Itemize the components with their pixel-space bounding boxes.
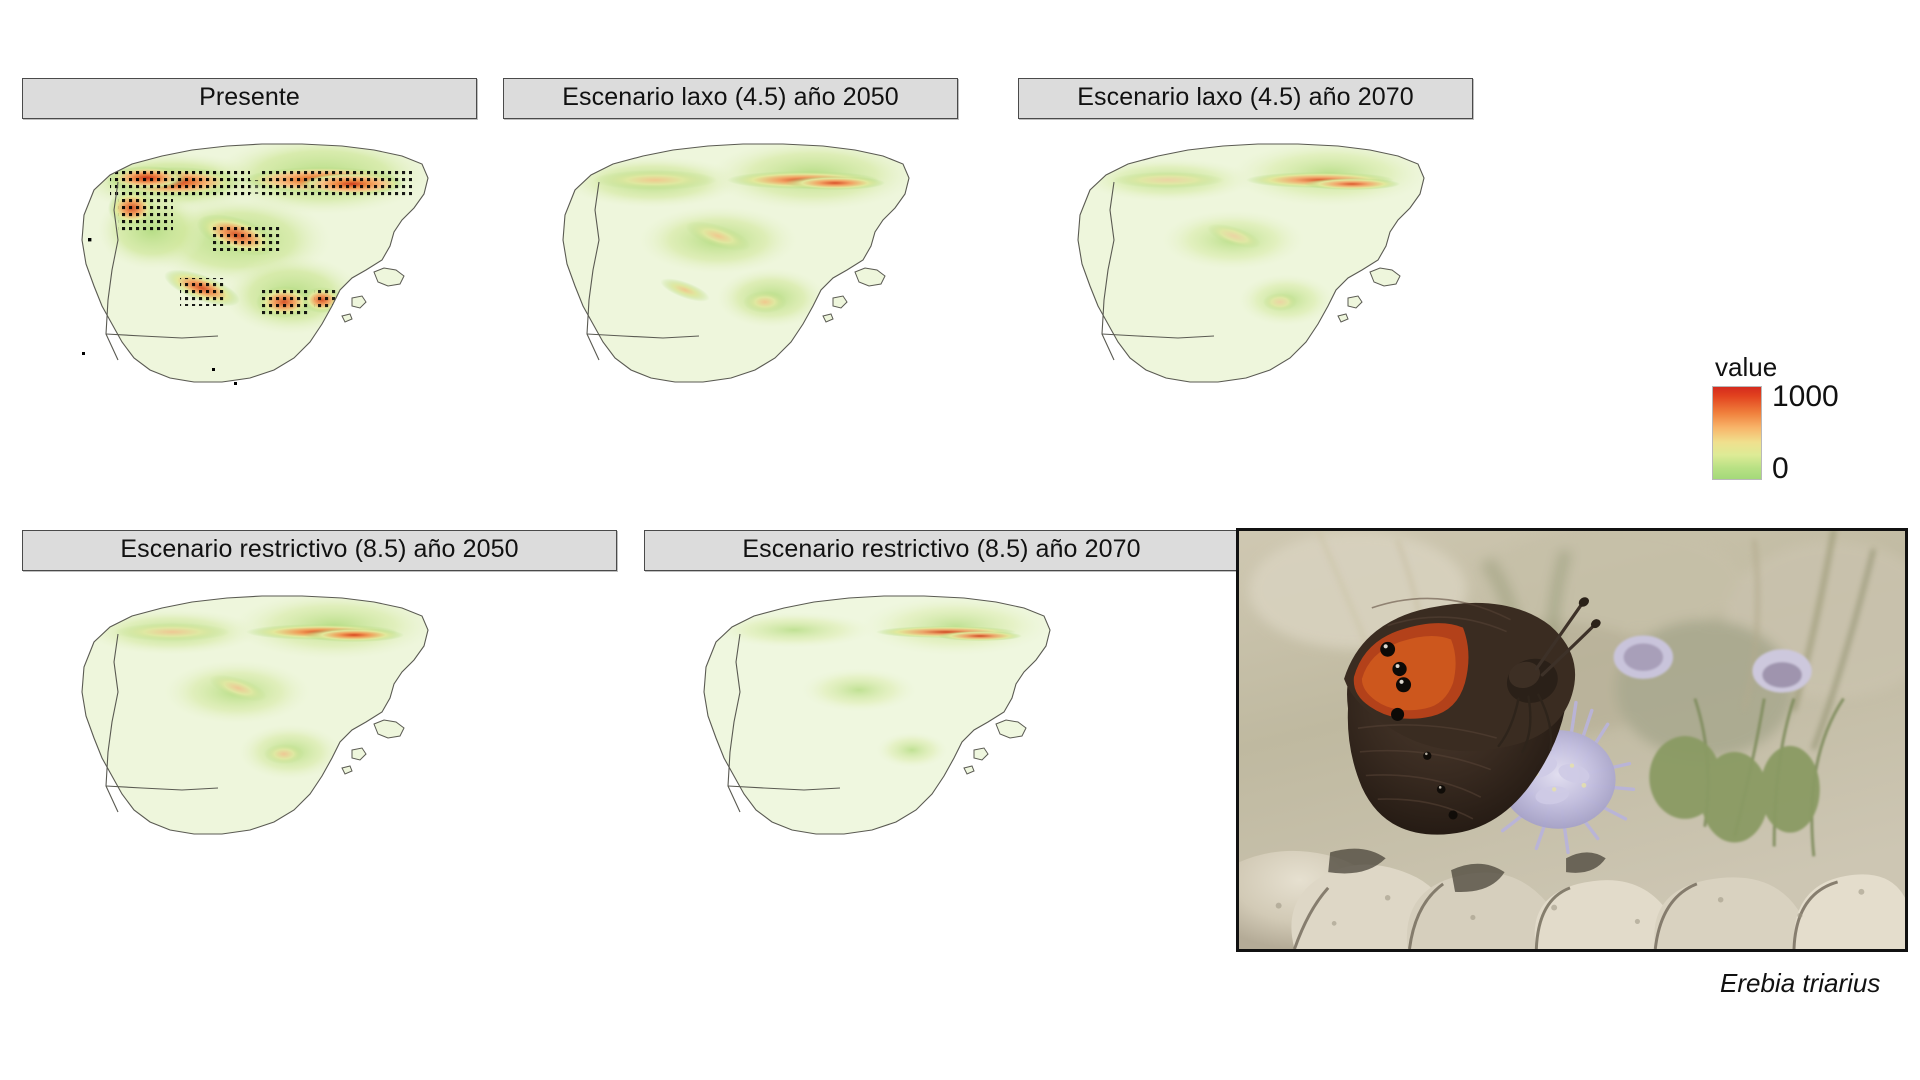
species-photo-svg (1239, 531, 1905, 949)
legend-color-bar (1712, 386, 1762, 480)
species-caption: Erebia triarius (1720, 968, 1880, 999)
panel-title-rcp45-2070: Escenario laxo (4.5) año 2070 (1018, 78, 1473, 119)
map-rcp85-2050-svg (22, 572, 477, 872)
panel-title-rcp85-2070: Escenario restrictivo (8.5) año 2070 (644, 530, 1239, 571)
legend-min-label: 0 (1772, 452, 1789, 486)
map-present[interactable] (22, 120, 477, 420)
map-rcp85-2050[interactable] (22, 572, 477, 872)
map-rcp45-2050[interactable] (503, 120, 958, 420)
legend-title: value (1715, 352, 1777, 383)
map-rcp45-2070[interactable] (1018, 120, 1473, 420)
legend: value 1000 0 (1740, 352, 1920, 482)
map-rcp85-2070-svg (644, 572, 1099, 872)
map-rcp45-2070-svg (1018, 120, 1473, 420)
map-rcp85-2070[interactable] (644, 572, 1099, 872)
panel-title-rcp85-2050: Escenario restrictivo (8.5) año 2050 (22, 530, 617, 571)
map-present-svg (22, 120, 477, 420)
panel-title-rcp45-2050: Escenario laxo (4.5) año 2050 (503, 78, 958, 119)
map-rcp45-2050-svg (503, 120, 958, 420)
panel-title-present: Presente (22, 78, 477, 119)
species-photo (1236, 528, 1908, 952)
legend-max-label: 1000 (1772, 380, 1839, 414)
